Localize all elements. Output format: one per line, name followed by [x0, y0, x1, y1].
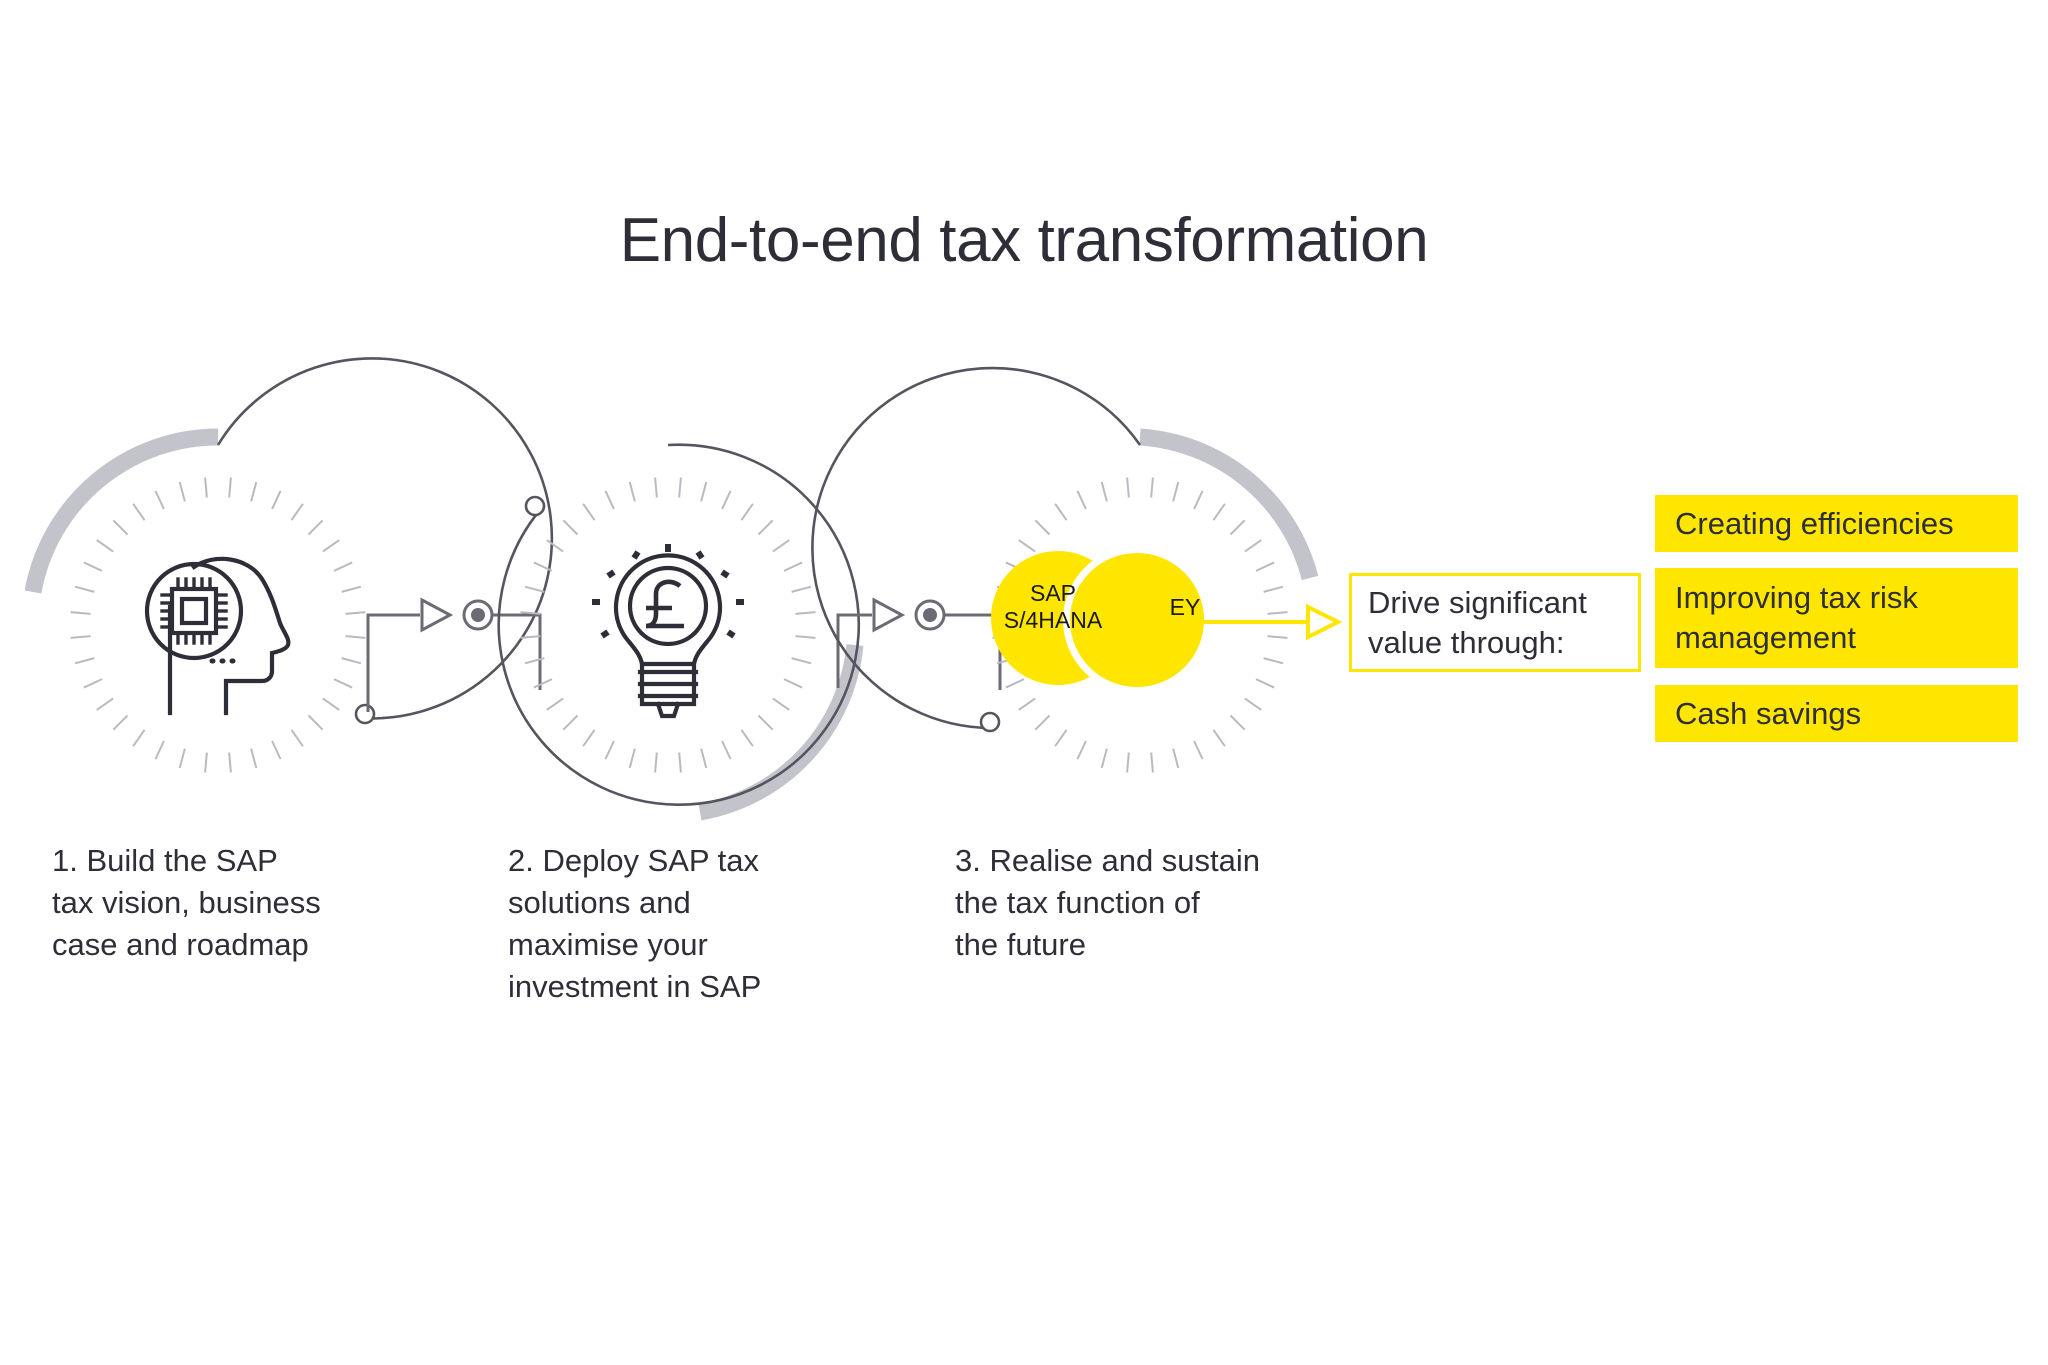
venn-sap-ey-icon	[991, 546, 1211, 694]
diagram-canvas: End-to-end tax transformation	[0, 0, 2048, 1365]
connector-step2-step3	[838, 600, 1000, 690]
step-2-caption: 2. Deploy SAP tax solutions and maximise…	[508, 840, 848, 1008]
benefit-box-creating-efficiencies[interactable]: Creating efficiencies	[1655, 495, 2018, 552]
step-3-caption: 3. Realise and sustain the tax function …	[955, 840, 1325, 966]
step-3-endpoint-dot	[981, 713, 999, 731]
benefit-label: Cash savings	[1675, 694, 1861, 734]
step-1-endpoint-dot	[356, 705, 374, 723]
diagram-scene	[0, 0, 2048, 1365]
step-3-circle[interactable]	[812, 368, 1310, 772]
connector-step3-drive	[1200, 607, 1338, 637]
arrowhead-2	[874, 600, 902, 630]
step-1-progress-arc	[33, 437, 218, 592]
lightbulb-pound-icon	[592, 544, 744, 716]
step-2-circle[interactable]	[499, 445, 859, 812]
step-1-caption: 1. Build the SAP tax vision, business ca…	[52, 840, 402, 966]
step-2-endpoint-dot	[526, 497, 544, 515]
step-1-ring	[218, 358, 552, 718]
benefit-box-cash-savings[interactable]: Cash savings	[1655, 685, 2018, 742]
benefit-label: Creating efficiencies	[1675, 504, 1954, 544]
venn-circle-ey	[1070, 553, 1204, 687]
arrowhead-1	[422, 600, 450, 630]
step-2-progress-arc	[700, 645, 855, 812]
arrowhead-yellow	[1308, 607, 1338, 637]
drive-value-text: Drive significant value through:	[1368, 583, 1587, 663]
drive-value-box: Drive significant value through:	[1349, 573, 1641, 672]
head-with-microchip-icon	[147, 559, 288, 713]
step-1-circle[interactable]	[33, 358, 552, 772]
benefit-label: Improving tax risk management	[1675, 578, 1918, 658]
benefit-box-improving-tax-risk-management[interactable]: Improving tax risk management	[1655, 568, 2018, 668]
